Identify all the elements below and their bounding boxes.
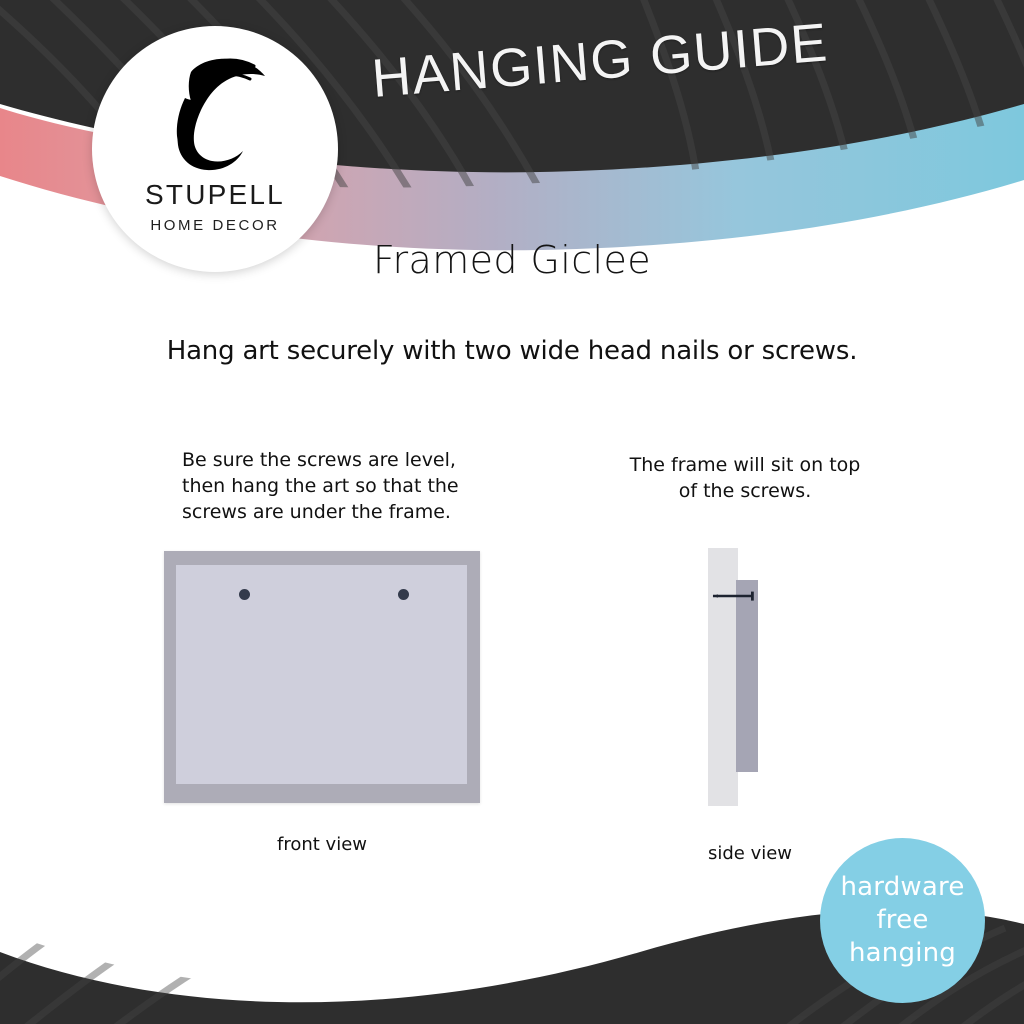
front-caption-line-2: then hang the art so that the <box>182 473 482 499</box>
side-view-diagram <box>708 548 800 806</box>
side-caption-line-1: The frame will sit on top <box>600 452 890 478</box>
front-view-diagram <box>164 551 480 803</box>
stupell-swoosh-logo-icon <box>155 46 275 176</box>
screw-dot-right-icon <box>398 589 409 600</box>
badge-line-2: free <box>876 904 928 937</box>
side-view-caption: The frame will sit on top of the screws. <box>600 452 890 504</box>
front-caption-line-1: Be sure the screws are level, <box>182 447 482 473</box>
nail-side-icon <box>712 590 760 602</box>
side-view-label: side view <box>660 843 840 864</box>
front-view-caption: Be sure the screws are level, then hang … <box>182 447 482 526</box>
front-view-art-panel <box>176 565 467 784</box>
brand-logo-badge: STUPELL HOME DECOR <box>92 26 338 272</box>
brand-name: STUPELL <box>92 181 338 209</box>
product-type-title: Framed Giclee <box>373 238 651 282</box>
side-view-wall <box>708 548 738 806</box>
front-view-label: front view <box>164 834 480 855</box>
lead-instruction: Hang art securely with two wide head nai… <box>0 336 1024 366</box>
side-view-frame <box>736 580 758 772</box>
screw-dot-left-icon <box>239 589 250 600</box>
front-caption-line-3: screws are under the frame. <box>182 499 482 525</box>
brand-tagline: HOME DECOR <box>92 218 338 233</box>
hanging-guide-poster: STUPELL HOME DECOR HANGING GUIDE Framed … <box>0 0 1024 1024</box>
side-caption-line-2: of the screws. <box>600 478 890 504</box>
badge-line-3: hanging <box>849 937 956 970</box>
badge-line-1: hardware <box>840 871 964 904</box>
hardware-free-hanging-badge: hardware free hanging <box>820 838 985 1003</box>
